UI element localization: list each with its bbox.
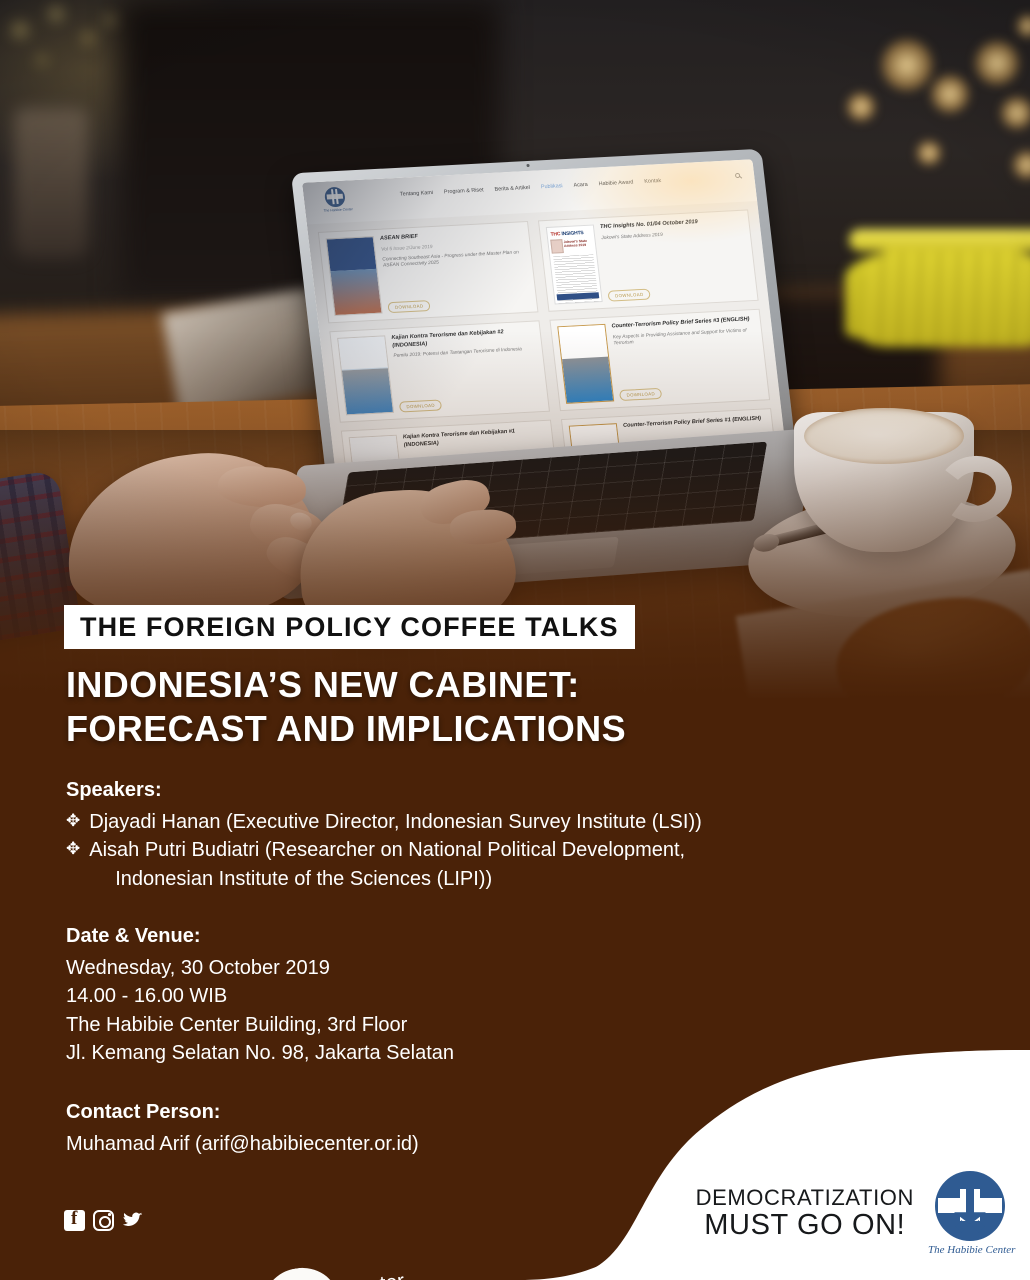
contact-details: Muhamad Arif (arif@habibiecenter.or.id) bbox=[66, 1130, 419, 1158]
social-links: habibiecenter bbox=[64, 1210, 143, 1231]
date-venue-label: Date & Venue: bbox=[66, 925, 454, 948]
event-series-title: THE FOREIGN POLICY COFFEE TALKS bbox=[80, 612, 619, 643]
contact-section: Contact Person: Muhamad Arif (arif@habib… bbox=[66, 1101, 419, 1158]
speaker-item: ✥ Aisah Putri Budiatri (Researcher on Na… bbox=[66, 836, 702, 893]
speaker-affiliation-cont: Indonesian Institute of the Sciences (LI… bbox=[89, 865, 685, 893]
contact-label: Contact Person: bbox=[66, 1101, 419, 1124]
speaker-item: ✥ Djayadi Hanan (Executive Director, Ind… bbox=[66, 808, 702, 836]
slogan-line-1: DEMOCRATIZATION bbox=[696, 1187, 914, 1209]
logo-wordmark: The Habibie Center bbox=[928, 1244, 1012, 1256]
speakers-section: Speakers: ✥ Djayadi Hanan (Executive Dir… bbox=[66, 779, 702, 893]
page-title: INDONESIA’S NEW CABINET: FORECAST AND IM… bbox=[66, 663, 626, 751]
speaker-name-affiliation: Djayadi Hanan (Executive Director, Indon… bbox=[89, 808, 702, 836]
date-venue-section: Date & Venue: Wednesday, 30 October 2019… bbox=[66, 925, 454, 1068]
slogan-line-2: MUST GO ON! bbox=[696, 1211, 914, 1240]
instagram-icon[interactable] bbox=[93, 1210, 114, 1231]
habibie-center-logo: The Habibie Center bbox=[928, 1171, 1012, 1256]
speakers-label: Speakers: bbox=[66, 779, 702, 802]
clover-bullet-icon: ✥ bbox=[66, 836, 80, 862]
habibie-center-mark-icon bbox=[935, 1171, 1005, 1241]
cafe-photo: The Habibie Center Tentang Kami Program … bbox=[0, 0, 1030, 700]
clover-bullet-icon: ✥ bbox=[66, 808, 80, 834]
twitter-icon[interactable] bbox=[122, 1210, 143, 1231]
event-building: The Habibie Center Building, 3rd Floor bbox=[66, 1011, 454, 1039]
headline-line-2: FORECAST AND IMPLICATIONS bbox=[66, 707, 626, 751]
event-date: Wednesday, 30 October 2019 bbox=[66, 954, 454, 982]
event-address: Jl. Kemang Selatan No. 98, Jakarta Selat… bbox=[66, 1039, 454, 1067]
event-series-banner: THE FOREIGN POLICY COFFEE TALKS bbox=[64, 605, 635, 649]
event-poster: The Habibie Center Tentang Kami Program … bbox=[0, 0, 1030, 1280]
headline-line-1: INDONESIA’S NEW CABINET: bbox=[66, 663, 626, 707]
speaker-name-affiliation: Aisah Putri Budiatri (Researcher on Nati… bbox=[89, 839, 685, 861]
event-time: 14.00 - 16.00 WIB bbox=[66, 982, 454, 1010]
footer-branding: DEMOCRATIZATION MUST GO ON! The Habibie … bbox=[696, 1171, 1012, 1256]
slogan: DEMOCRATIZATION MUST GO ON! bbox=[696, 1187, 914, 1240]
facebook-icon[interactable] bbox=[64, 1210, 85, 1231]
